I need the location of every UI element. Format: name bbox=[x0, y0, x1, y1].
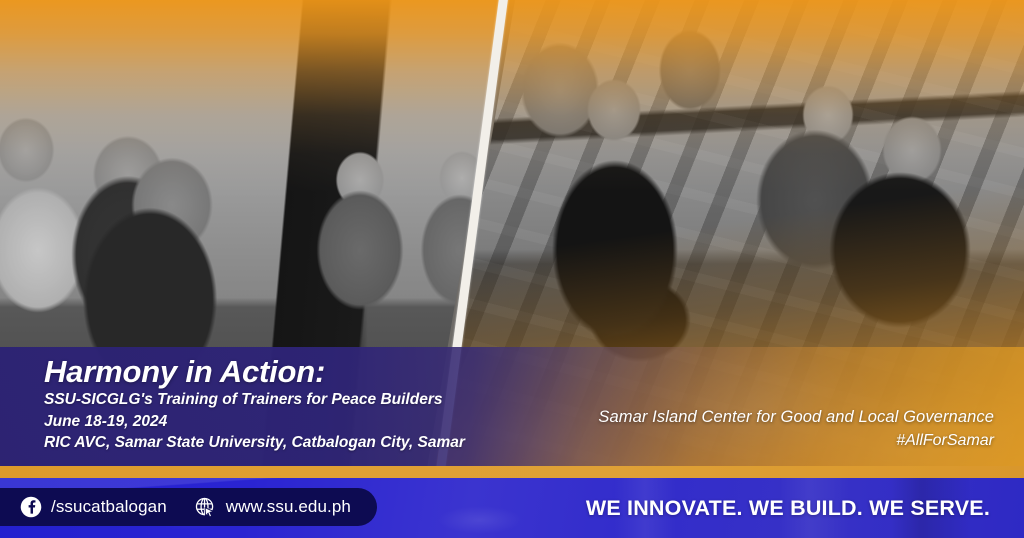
contact-pill: /ssucatbalogan www.ssu.edu.ph bbox=[0, 488, 377, 526]
organizer-block: Samar Island Center for Good and Local G… bbox=[598, 407, 994, 452]
facebook-icon[interactable] bbox=[20, 496, 42, 518]
event-banner: Harmony in Action: SSU-SICGLG's Training… bbox=[0, 347, 1024, 466]
campaign-hashtag: #AllForSamar bbox=[598, 431, 994, 452]
institution-tagline: WE INNOVATE. WE BUILD. WE SERVE. bbox=[586, 478, 990, 538]
event-title: Harmony in Action: bbox=[44, 355, 465, 388]
globe-cursor-icon[interactable] bbox=[194, 496, 217, 519]
footer-bar: /ssucatbalogan www.ssu.edu.ph WE INNOVAT… bbox=[0, 478, 1024, 538]
event-venue: RIC AVC, Samar State University, Catbalo… bbox=[44, 434, 465, 451]
poster-canvas: Harmony in Action: SSU-SICGLG's Training… bbox=[0, 0, 1024, 538]
event-details-block: Harmony in Action: SSU-SICGLG's Training… bbox=[44, 355, 465, 452]
facebook-handle[interactable]: /ssucatbalogan bbox=[51, 497, 167, 517]
event-subtitle: SSU-SICGLG's Training of Trainers for Pe… bbox=[44, 391, 465, 408]
event-date: June 18-19, 2024 bbox=[44, 413, 465, 430]
organizer-name: Samar Island Center for Good and Local G… bbox=[598, 407, 994, 428]
gold-divider-stripe bbox=[0, 466, 1024, 478]
website-url[interactable]: www.ssu.edu.ph bbox=[226, 497, 351, 517]
